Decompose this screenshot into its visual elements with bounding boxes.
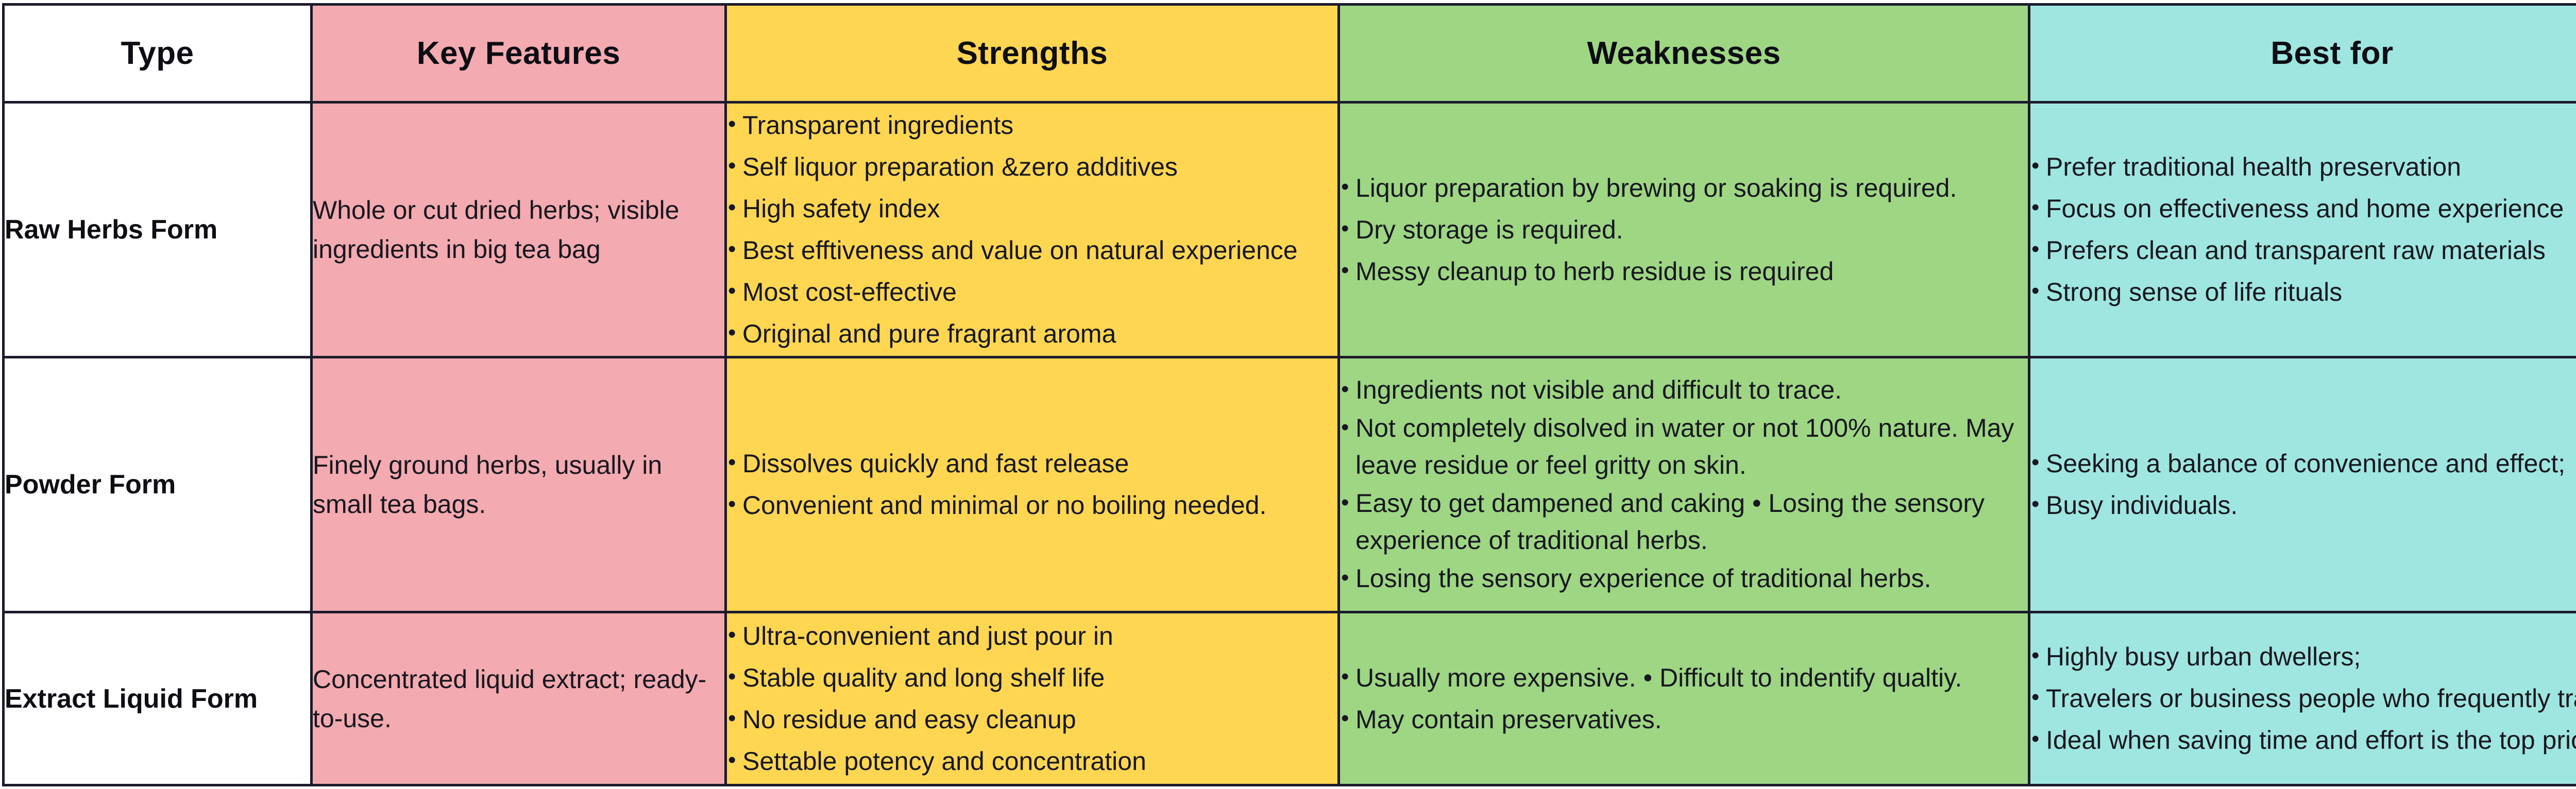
row-weaknesses: Usually more expensive. • Difficult to i…: [1339, 612, 2029, 785]
key-features-text: Concentrated liquid extract; ready-to-us…: [313, 660, 724, 738]
list-item: Usually more expensive. • Difficult to i…: [1340, 659, 2028, 697]
list-item: Seeking a balance of convenience and eff…: [2030, 444, 2576, 483]
row-best-for: Seeking a balance of convenience and eff…: [2029, 357, 2576, 612]
list-item: Easy to get dampened and caking • Losing…: [1340, 485, 2028, 559]
row-weaknesses: Liquor preparation by brewing or soaking…: [1339, 102, 2029, 357]
table-header: Type Key Features Strengths Weaknesses B…: [4, 5, 2576, 102]
list-item: Most cost-effective: [727, 273, 1337, 312]
table-row: Extract Liquid Form Concentrated liquid …: [4, 612, 2576, 785]
key-features-text: Finely ground herbs, usually in small te…: [313, 445, 724, 524]
table-row: Powder Form Finely ground herbs, usually…: [4, 357, 2576, 612]
best-for-list: Highly busy urban dwellers; Travelers or…: [2030, 638, 2576, 760]
row-best-for: Prefer traditional health preservation F…: [2029, 102, 2576, 357]
weaknesses-list: Liquor preparation by brewing or soaking…: [1340, 169, 2028, 291]
best-for-list: Seeking a balance of convenience and eff…: [2030, 444, 2576, 525]
list-item: May contain preservatives.: [1340, 700, 2028, 739]
row-best-for: Highly busy urban dwellers; Travelers or…: [2029, 612, 2576, 785]
key-features-text: Whole or cut dried herbs; visible ingred…: [313, 191, 724, 269]
row-strengths: Dissolves quickly and fast release Conve…: [726, 357, 1339, 612]
list-item: Liquor preparation by brewing or soaking…: [1340, 169, 2028, 208]
column-header-strengths: Strengths: [726, 5, 1339, 102]
column-header-type: Type: [4, 5, 312, 102]
list-item: Ideal when saving time and effort is the…: [2030, 721, 2576, 760]
best-for-list: Prefer traditional health preservation F…: [2030, 148, 2576, 312]
table-body: Raw Herbs Form Whole or cut dried herbs;…: [4, 102, 2576, 785]
list-item: Prefer traditional health preservation: [2030, 148, 2576, 186]
list-item: Ingredients not visible and difficult to…: [1340, 371, 2028, 408]
row-strengths: Transparent ingredients Self liquor prep…: [726, 102, 1339, 357]
list-item: Prefers clean and transparent raw materi…: [2030, 231, 2576, 270]
list-item: Busy individuals.: [2030, 486, 2576, 525]
row-strengths: Ultra-convenient and just pour in Stable…: [726, 612, 1339, 785]
list-item: Losing the sensory experience of traditi…: [1340, 560, 2028, 597]
row-weaknesses: Ingredients not visible and difficult to…: [1339, 357, 2029, 612]
list-item: Highly busy urban dwellers;: [2030, 638, 2576, 676]
row-key-features: Finely ground herbs, usually in small te…: [312, 357, 726, 612]
list-item: Messy cleanup to herb residue is require…: [1340, 252, 2028, 291]
table-row: Raw Herbs Form Whole or cut dried herbs;…: [4, 102, 2576, 357]
list-item: Travelers or business people who frequen…: [2030, 679, 2576, 718]
row-key-features: Concentrated liquid extract; ready-to-us…: [312, 612, 726, 785]
list-item: Convenient and minimal or no boiling nee…: [727, 486, 1337, 525]
row-key-features: Whole or cut dried herbs; visible ingred…: [312, 102, 726, 357]
header-row: Type Key Features Strengths Weaknesses B…: [4, 5, 2576, 102]
column-header-best-for: Best for: [2029, 5, 2576, 102]
list-item: Ultra-convenient and just pour in: [727, 617, 1337, 656]
list-item: Self liquor preparation &zero additives: [727, 148, 1337, 186]
list-item: Settable potency and concentration: [727, 742, 1337, 781]
list-item: Focus on effectiveness and home experien…: [2030, 190, 2576, 228]
comparison-table-container: Type Key Features Strengths Weaknesses B…: [0, 0, 2576, 789]
weaknesses-list: Usually more expensive. • Difficult to i…: [1340, 659, 2028, 739]
row-type-label: Extract Liquid Form: [4, 612, 312, 785]
column-header-key-features: Key Features: [312, 5, 726, 102]
list-item: Strong sense of life rituals: [2030, 273, 2576, 312]
row-type-label: Raw Herbs Form: [4, 102, 312, 357]
list-item: Transparent ingredients: [727, 106, 1337, 145]
list-item: No residue and easy cleanup: [727, 700, 1337, 739]
weaknesses-list: Ingredients not visible and difficult to…: [1340, 371, 2028, 597]
list-item: Stable quality and long shelf life: [727, 659, 1337, 697]
list-item: Original and pure fragrant aroma: [727, 315, 1337, 353]
list-item: Not completely disolved in water or not …: [1340, 409, 2028, 484]
row-type-label: Powder Form: [4, 357, 312, 612]
list-item: Best efftiveness and value on natural ex…: [727, 231, 1337, 270]
strengths-list: Ultra-convenient and just pour in Stable…: [727, 617, 1337, 781]
list-item: High safety index: [727, 190, 1337, 228]
strengths-list: Dissolves quickly and fast release Conve…: [727, 444, 1337, 525]
column-header-weaknesses: Weaknesses: [1339, 5, 2029, 102]
list-item: Dissolves quickly and fast release: [727, 444, 1337, 483]
list-item: Dry storage is required.: [1340, 211, 2028, 249]
strengths-list: Transparent ingredients Self liquor prep…: [727, 106, 1337, 353]
comparison-table: Type Key Features Strengths Weaknesses B…: [2, 3, 2576, 786]
